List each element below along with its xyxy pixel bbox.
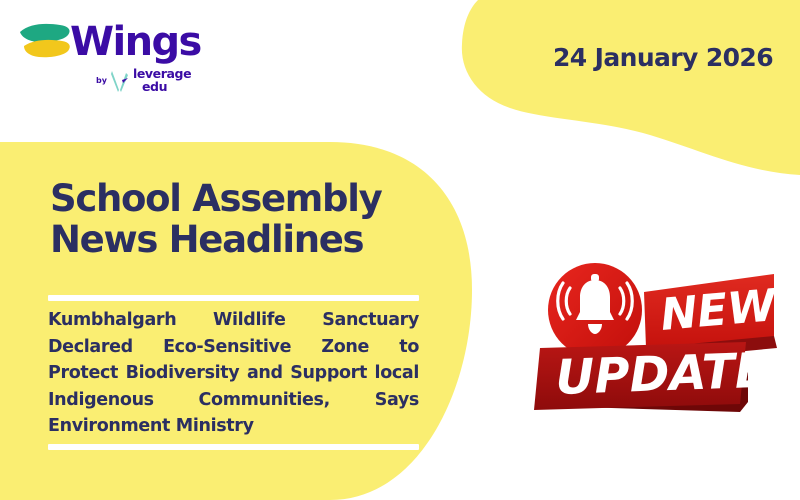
- wing-swoosh-icon: [16, 22, 78, 68]
- badge-new-label: NEW: [659, 280, 781, 341]
- new-update-badge[interactable]: NEW UPDATE: [534, 252, 786, 420]
- top-right-yellow-blob: [462, 0, 800, 175]
- brand-logo[interactable]: Wings by leverage edu: [14, 16, 204, 108]
- partner-line-2: edu: [133, 81, 191, 94]
- news-card: Wings by leverage edu 24 January 2026 Sc…: [0, 0, 800, 500]
- brand-by-label: by: [96, 77, 107, 85]
- article-body: Kumbhalgarh Wildlife Sanctuary Declared …: [48, 307, 419, 440]
- page-title: School Assembly News Headlines: [50, 178, 450, 261]
- badge-update-label: UPDATE: [554, 343, 768, 406]
- brand-partner-name: leverage edu: [133, 68, 191, 94]
- brand-partner-lockup: by leverage edu: [96, 68, 191, 94]
- divider-bottom: [48, 444, 419, 450]
- brand-wordmark: Wings: [70, 22, 201, 62]
- page-title-line-1: School Assembly: [50, 178, 450, 219]
- publish-date: 24 January 2026: [553, 43, 773, 72]
- badge-bell-circle: [548, 263, 642, 357]
- divider-top: [48, 295, 419, 301]
- page-title-line-2: News Headlines: [50, 219, 450, 260]
- leverage-v-icon: [110, 69, 130, 93]
- badge-update-banner: UPDATE: [534, 342, 769, 412]
